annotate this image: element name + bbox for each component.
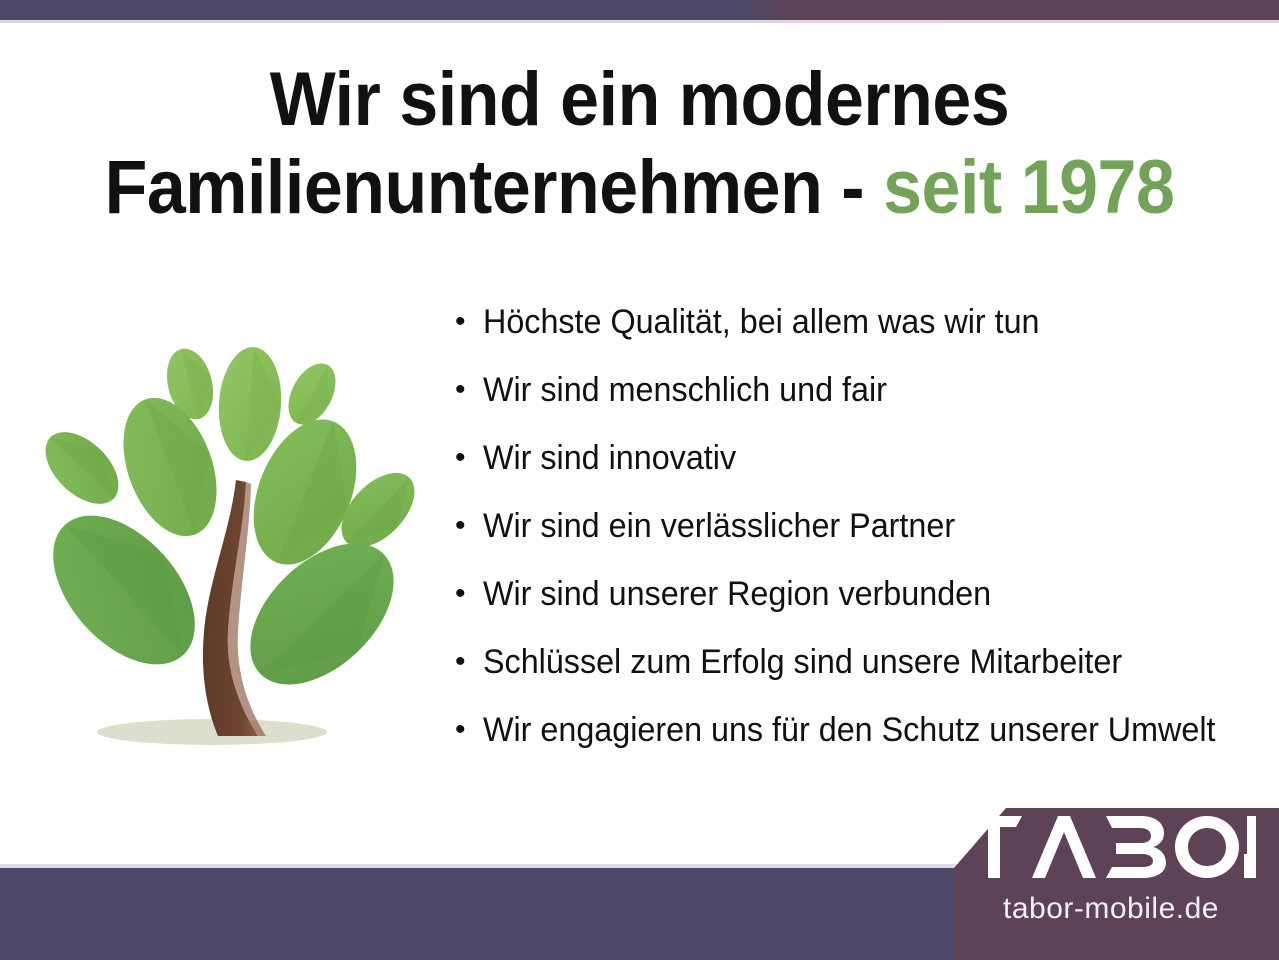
list-item: • Wir sind unserer Region verbunden	[455, 572, 1275, 640]
list-item: • Wir engagieren uns für den Schutz unse…	[455, 708, 1275, 776]
list-item: • Höchste Qualität, bei allem was wir tu…	[455, 300, 1275, 368]
bullet-dot-icon: •	[455, 300, 483, 344]
leaf-top-right	[279, 355, 345, 432]
list-item: • Wir sind innovativ	[455, 436, 1275, 504]
list-item: • Wir sind menschlich und fair	[455, 368, 1275, 436]
bullet-dot-icon: •	[455, 640, 483, 684]
list-item-label: Höchste Qualität, bei allem was wir tun	[483, 300, 1040, 344]
list-item-label: Wir sind innovativ	[483, 436, 736, 480]
leaf-top-center	[215, 345, 285, 463]
page-title-line-2: Familienunternehmen - seit 1978	[51, 144, 1228, 232]
list-item-label: Wir sind ein verlässlicher Partner	[483, 504, 955, 548]
page-title-accent: seit 1978	[883, 145, 1174, 230]
page-title: Wir sind ein modernes Familienunternehme…	[51, 56, 1228, 232]
tabor-logo-wordmark	[966, 816, 1256, 878]
bullet-dot-icon: •	[455, 504, 483, 548]
bullet-dot-icon: •	[455, 368, 483, 412]
top-accent-bar	[0, 0, 1279, 20]
bullet-dot-icon: •	[455, 708, 483, 752]
list-item: • Wir sind ein verlässlicher Partner	[455, 504, 1275, 572]
list-item-label: Wir engagieren uns für den Schutz unsere…	[483, 708, 1215, 752]
list-item-label: Wir sind unserer Region verbunden	[483, 572, 991, 616]
page-title-line-1: Wir sind ein modernes	[51, 56, 1228, 144]
page-title-line-2-plain: Familienunternehmen -	[105, 145, 884, 230]
list-item: • Schlüssel zum Erfolg sind unsere Mitar…	[455, 640, 1275, 708]
list-item-label: Schlüssel zum Erfolg sind unsere Mitarbe…	[483, 640, 1122, 684]
leaf-far-left	[32, 419, 131, 518]
logo-url: tabor-mobile.de	[966, 890, 1256, 928]
top-accent-bar-underline	[0, 20, 1279, 23]
list-item-label: Wir sind menschlich und fair	[483, 368, 887, 412]
bullet-dot-icon: •	[455, 572, 483, 616]
value-list: • Höchste Qualität, bei allem was wir tu…	[455, 300, 1275, 776]
bullet-dot-icon: •	[455, 436, 483, 480]
slide-root: Wir sind ein modernes Familienunternehme…	[0, 0, 1279, 960]
tree-illustration	[22, 332, 442, 762]
tree-shadow	[97, 719, 327, 745]
leaf-mid-left	[106, 385, 234, 549]
